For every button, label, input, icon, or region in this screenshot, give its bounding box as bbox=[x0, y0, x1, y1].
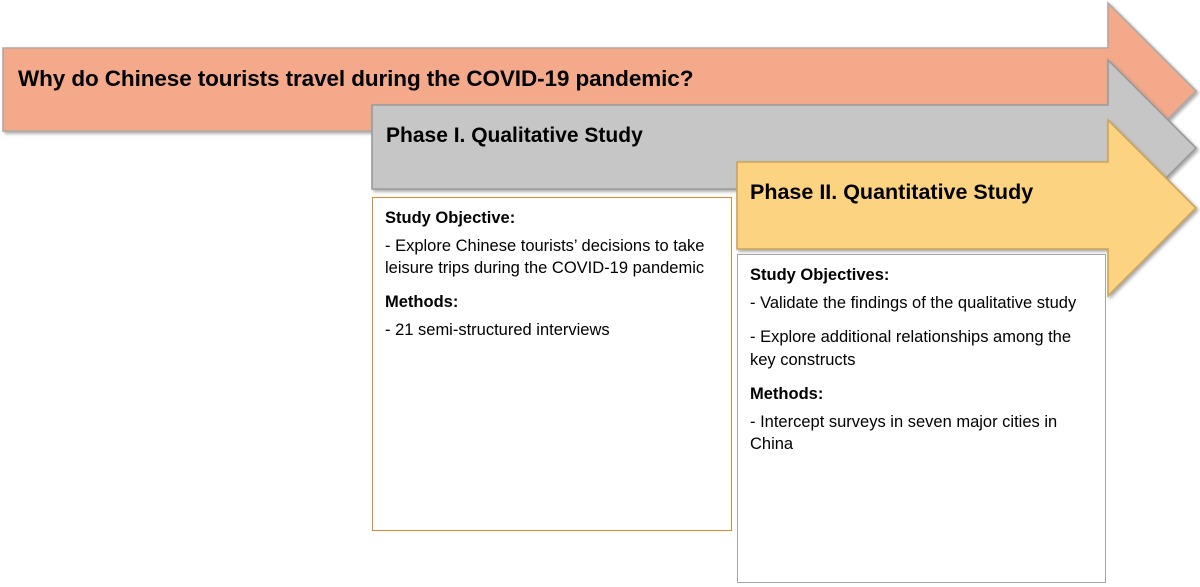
phase-2-banner-label: Phase II. Quantitative Study bbox=[750, 180, 1033, 205]
phase-1-content-panel: Study Objective: - Explore Chinese touri… bbox=[372, 197, 732, 531]
phase-2-objective-1-text: - Validate the findings of the qualitati… bbox=[750, 292, 1093, 315]
process-flow-diagram: Why do Chinese tourists travel during th… bbox=[0, 0, 1200, 587]
phase-2-methods-text: - Intercept surveys in seven major citie… bbox=[750, 411, 1093, 457]
phase-1-banner-label: Phase I. Qualitative Study bbox=[386, 124, 643, 148]
phase-2-objective-2-text: - Explore additional relationships among… bbox=[750, 326, 1093, 372]
phase-1-methods-text: - 21 semi-structured interviews bbox=[385, 319, 719, 342]
phase-2-objectives-heading: Study Objectives: bbox=[750, 265, 1093, 286]
phase-1-objective-heading: Study Objective: bbox=[385, 208, 719, 229]
phase-1-methods-heading: Methods: bbox=[385, 292, 719, 313]
title-banner-label: Why do Chinese tourists travel during th… bbox=[18, 66, 693, 92]
phase-2-content-panel: Study Objectives: - Validate the finding… bbox=[737, 254, 1106, 583]
phase-1-objective-text: - Explore Chinese tourists’ decisions to… bbox=[385, 235, 719, 281]
phase-2-methods-heading: Methods: bbox=[750, 384, 1093, 405]
